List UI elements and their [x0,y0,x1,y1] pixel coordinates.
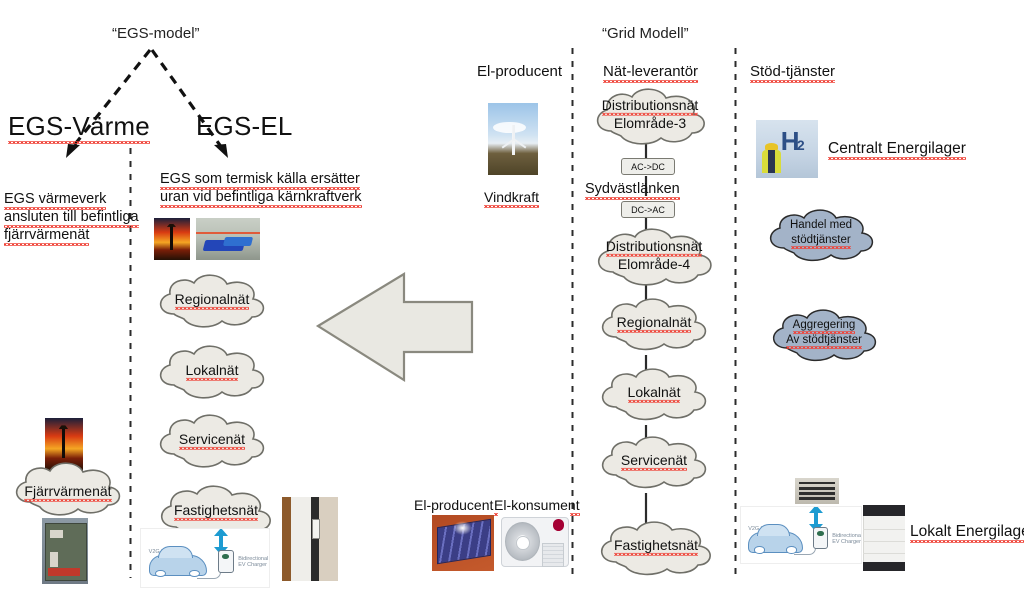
turbine-hall-image [196,218,260,260]
vindkraft-caption: Vindkraft [484,189,539,207]
heat-substation-image [42,518,88,584]
converter-ac-dc: AC->DC [621,158,675,175]
wind-turbine-image [488,103,538,175]
solar-panel-image [432,515,494,571]
cloud-grid-regionalnat: Regionalnät [592,296,716,356]
meter-cabinet-image [282,497,338,581]
branch-egs-el: EGS-EL [196,110,293,143]
home-battery-image [863,505,905,571]
cloud-distributionsnat-4: Distributionsnät Elområde-4 [586,226,722,294]
arrowhead-el [214,144,228,158]
diagram-canvas: “EGS-model” “Grid Modell” EGS-Värme EGS-… [0,0,1024,590]
cloud-grid-servicenat: Servicenät [592,434,716,494]
server-rack-image [795,478,839,504]
hydrogen-storage-image: H2 [756,120,818,178]
arrowhead-heat [66,144,80,158]
cloud-aggregering-av-stodtjanster: Aggregering Av stödtjänster [763,307,885,367]
services-column-header: Stöd-tjänster [750,63,835,82]
ev-charger-diagram-left: V2G Vehicle BidirectionalEV Charger [140,528,270,588]
cloud-egsel-servicenat: Servicenät [150,412,274,474]
converter-dc-ac: DC->AC [621,201,675,218]
sydvast-link-left: Sydväst [585,180,637,198]
central-storage-label: Centralt Energilager [828,139,966,158]
grid-model-title: “Grid Modell” [602,25,689,44]
producer-header: El-producent [477,63,562,82]
egs-varme-description: EGS värmeverk ansluten till befintliga f… [4,190,139,244]
branch-egs-varme: EGS-Värme [8,110,150,143]
cloud-handel-med-stodtjanster: Handel med stödtjänster [760,207,882,267]
ev-charger-diagram-right: V2G Vehicle BidirectionalEV Charger [740,506,862,564]
cloud-egsel-lokalnat: Lokalnät [150,343,274,405]
cloud-distributionsnat-3: Distributionsnät Elområde-3 [586,86,714,152]
local-storage-label: Lokalt Energilager [910,522,1024,541]
geothermal-rig-image-el [154,218,190,260]
sydvast-link-right: länken [637,180,680,198]
egs-model-title: “EGS-model” [112,25,200,44]
cloud-egsel-regionalnat: Regionalnät [150,272,274,334]
egs-el-description: EGS som termisk källa ersätter uran vid … [160,170,362,206]
cloud-fjarrvarmenat: Fjärrvärmenät [6,460,130,522]
cloud-grid-fastighetsnat: Fastighetsnät [590,519,722,581]
large-left-arrow [314,268,484,396]
grid-column-header: Nät-leverantör [603,63,698,82]
cloud-grid-lokalnat: Lokalnät [592,366,716,426]
bottom-producer-label: El-producent [414,497,493,515]
